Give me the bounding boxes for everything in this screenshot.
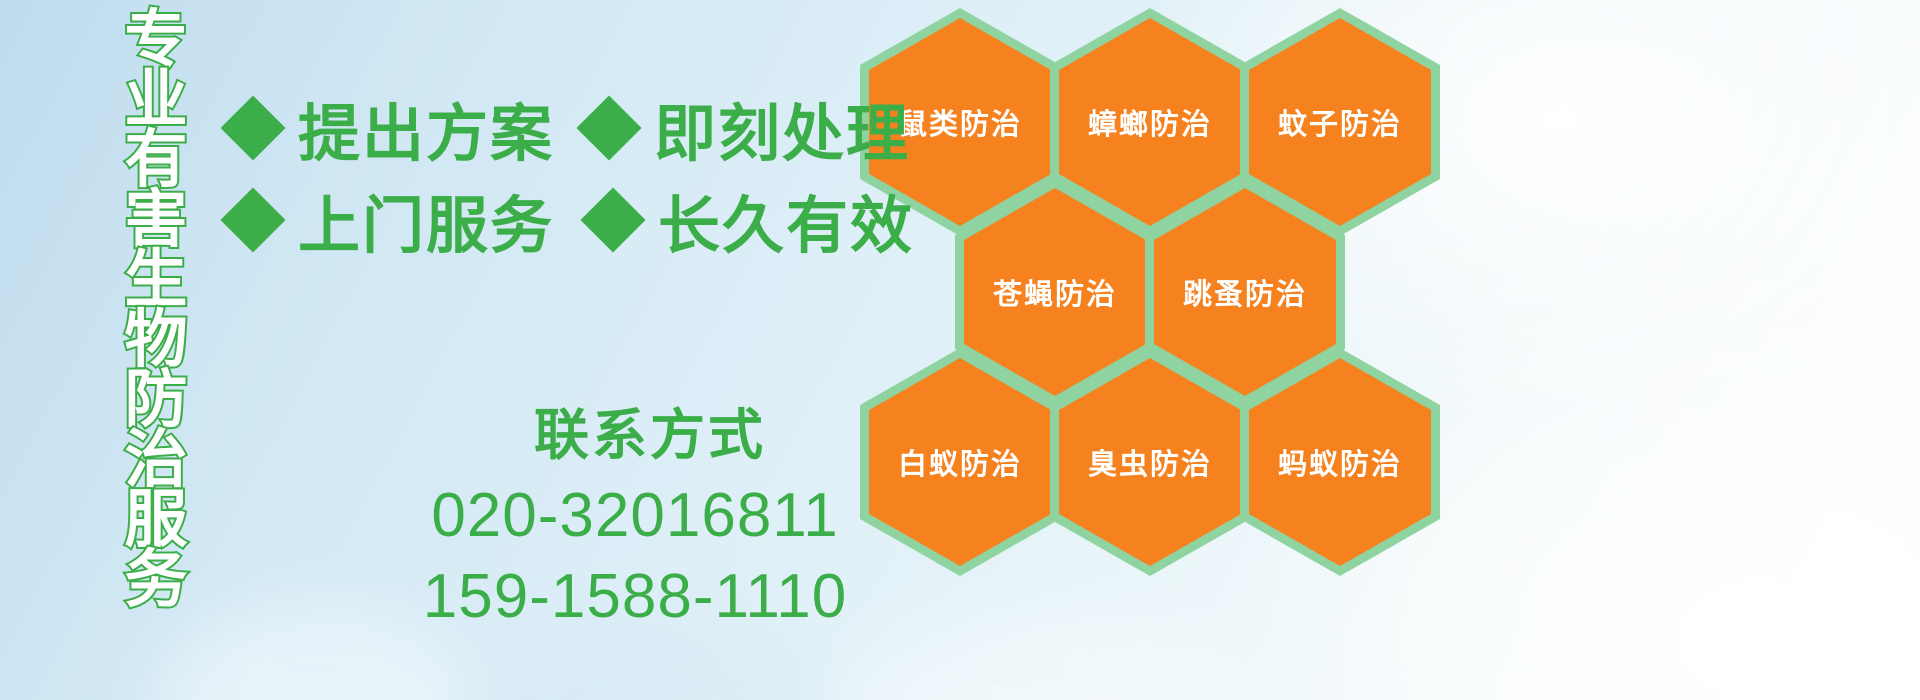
promo-banner: 专 业 有 害 生 物 防 治 服 务 提出方案 即刻处理 上门服务 xyxy=(0,0,1920,700)
vertical-slogan-char: 生 xyxy=(125,250,188,310)
vertical-slogan-char: 业 xyxy=(125,70,188,130)
phone-mobile[interactable]: 159-1588-1110 xyxy=(400,561,870,632)
hex-inner: 蚊子防治 xyxy=(1249,18,1431,226)
vertical-slogan-char: 务 xyxy=(125,550,188,610)
hex-inner: 白蚁防治 xyxy=(869,358,1051,566)
hex-inner: 苍蝇防治 xyxy=(964,188,1146,396)
hex-inner: 臭虫防治 xyxy=(1059,358,1241,566)
diamond-icon xyxy=(580,187,645,252)
vertical-slogan-char: 专 xyxy=(125,10,188,70)
vertical-slogan-char: 治 xyxy=(125,430,188,490)
service-hex-grid: 鼠类防治 蟑螂防治 蚊子防治 苍蝇防治 跳蚤防治 白蚁防治 xyxy=(860,0,1460,700)
diamond-icon xyxy=(220,187,285,252)
service-label: 鼠类防治 xyxy=(898,101,1022,143)
vertical-slogan-char: 害 xyxy=(125,190,188,250)
service-label: 蟑螂防治 xyxy=(1088,101,1212,143)
feature-item-immediate-handling: 即刻处理 xyxy=(584,83,910,173)
service-label: 蚊子防治 xyxy=(1278,101,1402,143)
vertical-slogan-char: 有 xyxy=(125,130,188,190)
contact-title: 联系方式 xyxy=(430,390,870,470)
feature-label: 提出方案 xyxy=(298,83,554,173)
hex-inner: 跳蚤防治 xyxy=(1154,188,1336,396)
service-label: 蚂蚁防治 xyxy=(1278,441,1402,483)
vertical-slogan-char: 防 xyxy=(125,370,188,430)
feature-list: 提出方案 即刻处理 上门服务 长久有效 xyxy=(228,82,914,266)
service-label: 跳蚤防治 xyxy=(1183,271,1307,313)
diamond-icon xyxy=(576,95,641,160)
feature-label: 长久有效 xyxy=(658,175,914,265)
feature-label: 即刻处理 xyxy=(654,83,910,173)
vertical-slogan: 专 业 有 害 生 物 防 治 服 务 xyxy=(110,10,202,610)
service-label: 臭虫防治 xyxy=(1088,441,1212,483)
service-label: 苍蝇防治 xyxy=(993,271,1117,313)
diamond-icon xyxy=(220,95,285,160)
feature-item-propose-plan: 提出方案 xyxy=(228,83,554,173)
hex-inner: 蟑螂防治 xyxy=(1059,18,1241,226)
contact-block: 联系方式 020-32016811 159-1588-1110 xyxy=(400,390,870,632)
feature-item-long-lasting: 长久有效 xyxy=(588,175,914,265)
feature-item-onsite-service: 上门服务 xyxy=(228,175,554,265)
vertical-slogan-char: 服 xyxy=(125,490,188,550)
phone-landline[interactable]: 020-32016811 xyxy=(400,480,870,551)
vertical-slogan-char: 物 xyxy=(125,310,188,370)
hex-inner: 蚂蚁防治 xyxy=(1249,358,1431,566)
feature-row: 提出方案 即刻处理 xyxy=(228,82,914,174)
feature-label: 上门服务 xyxy=(298,175,554,265)
feature-row: 上门服务 长久有效 xyxy=(228,174,914,266)
service-label: 白蚁防治 xyxy=(898,441,1022,483)
